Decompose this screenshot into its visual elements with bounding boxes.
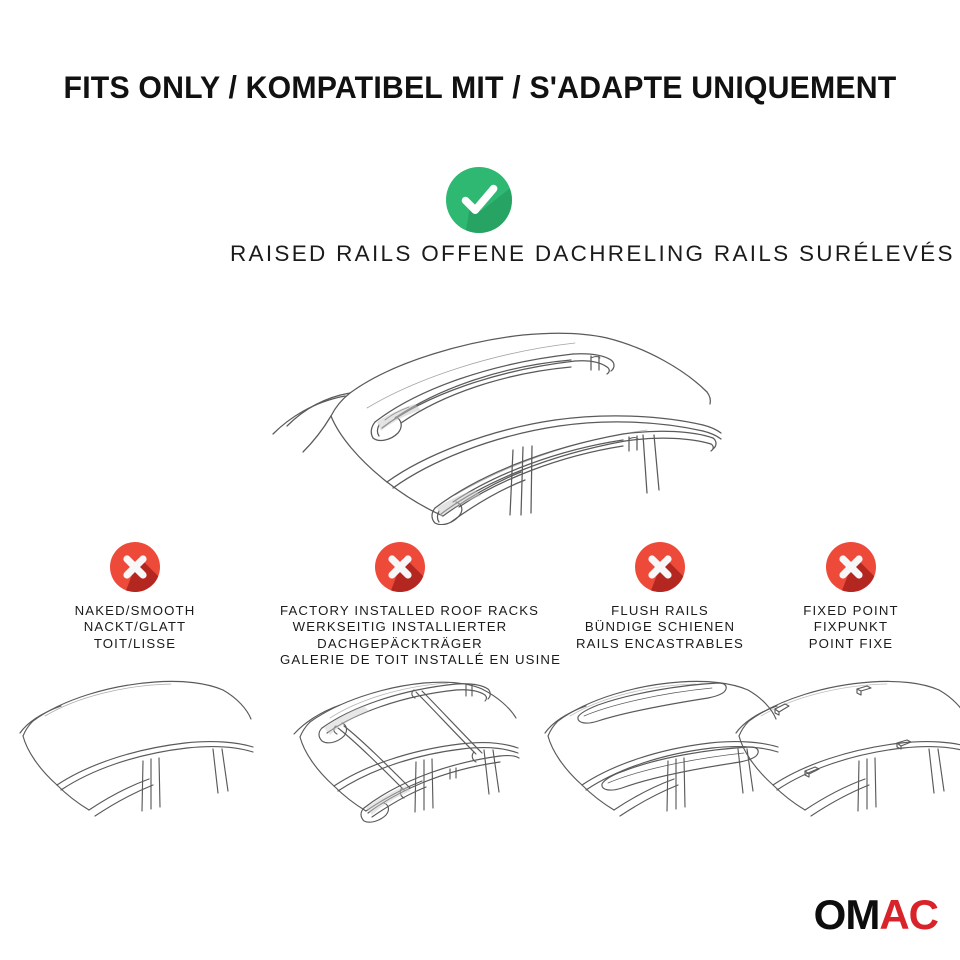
incompatible-column-fixed-point: FIXED POINT FIXPUNKT POINT FIXE	[731, 541, 960, 941]
incompatible-column-naked-smooth: NAKED/SMOOTH NACKT/GLATT TOIT/LISSE	[15, 541, 255, 941]
compatible-line-en: RAISED RAILS	[230, 241, 413, 266]
caption-line-fr: POINT FIXE	[731, 636, 960, 652]
caption-line-en: NAKED/SMOOTH	[15, 603, 255, 619]
cross-circle-icon	[374, 541, 426, 593]
caption-line-de: FIXPUNKT	[731, 619, 960, 635]
cross-circle-icon	[634, 541, 686, 593]
caption-line-en: FIXED POINT	[731, 603, 960, 619]
caption-line-de-2: DACHGEPÄCKTRÄGER	[280, 636, 520, 652]
logo-text-red: AC	[879, 891, 938, 938]
car-roof-naked-smooth-illustration	[15, 673, 255, 823]
car-roof-raised-rails-illustration	[255, 330, 725, 525]
incompatible-column-factory-roof-racks: FACTORY INSTALLED ROOF RACKS WERKSEITIG …	[280, 541, 520, 941]
cross-circle-icon	[825, 541, 877, 593]
compatible-line-fr: RAILS SURÉLEVÉS	[714, 241, 955, 266]
car-roof-fixed-point-illustration	[731, 673, 960, 823]
incompatible-caption: NAKED/SMOOTH NACKT/GLATT TOIT/LISSE	[15, 603, 255, 652]
caption-line-en: FACTORY INSTALLED ROOF RACKS	[280, 603, 520, 619]
caption-line-de: NACKT/GLATT	[15, 619, 255, 635]
cross-circle-icon	[109, 541, 161, 593]
caption-line-fr: TOIT/LISSE	[15, 636, 255, 652]
check-circle-icon	[445, 166, 513, 234]
compatible-line-de: OFFENE DACHRELING	[421, 241, 705, 266]
incompatible-caption: FIXED POINT FIXPUNKT POINT FIXE	[731, 603, 960, 652]
car-roof-factory-roof-racks-illustration	[280, 666, 520, 816]
logo-text-black: OM	[814, 891, 880, 938]
fitment-infographic: FITS ONLY / KOMPATIBEL MIT / S'ADAPTE UN…	[0, 0, 960, 960]
caption-line-de-1: WERKSEITIG INSTALLIERTER	[280, 619, 520, 635]
incompatible-caption: FACTORY INSTALLED ROOF RACKS WERKSEITIG …	[280, 603, 520, 668]
compatible-caption: RAISED RAILS OFFENE DACHRELING RAILS SUR…	[230, 240, 730, 267]
omac-logo: OMAC	[814, 894, 938, 936]
page-title: FITS ONLY / KOMPATIBEL MIT / S'ADAPTE UN…	[19, 69, 941, 106]
